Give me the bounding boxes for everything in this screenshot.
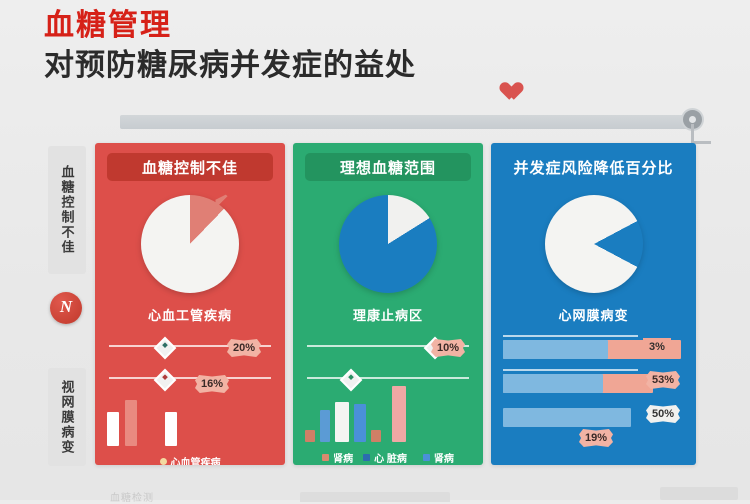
pie-chart-healthy-zone [339, 195, 437, 293]
legend-label: 心 脏病 [374, 450, 407, 465]
hbar-fill [503, 340, 608, 359]
header: 血糖管理 对预防糖尿病并发症的益处 [44, 6, 734, 86]
hbar-fill [503, 374, 603, 393]
panel-poor-control[interactable]: 血糖控制不佳 心血工管疾病 心血 [95, 143, 285, 465]
badge-19: 19% [579, 429, 613, 447]
slide-canvas: 血糖管理 对预防糖尿病并发症的益处 血糖控制不佳 N 视网膜病变 血糖控制不佳 [0, 0, 750, 500]
bar [165, 412, 177, 446]
page-title-sub: 对预防糖尿病并发症的益处 [44, 46, 734, 86]
pie-shape [339, 195, 437, 293]
legend-label: 心血管疾病 [171, 454, 221, 465]
slider-green-2[interactable] [307, 372, 469, 384]
bar-chart-red [107, 390, 273, 446]
bar-chart-green [305, 386, 471, 442]
sidebar-item-label-top: 血糖控制不佳 [61, 165, 74, 255]
panel-title-ideal-range: 理想血糖范围 [305, 153, 471, 181]
hbar-row[interactable]: 3% [503, 338, 684, 360]
bar [305, 430, 315, 442]
footer-caption: 血糖检测 [110, 489, 154, 504]
panel-ideal-range[interactable]: 理想血糖范围 理康止病区 [293, 143, 483, 465]
legend-green: 肾病 心 脏病 肾病 [293, 450, 483, 465]
hbar-label-53: 53% [646, 371, 680, 389]
hbar-label-50: 50% [646, 405, 680, 423]
badge-10: 10% [431, 339, 465, 357]
sidebar: 血糖控制不佳 N 视网膜病变 [48, 146, 86, 466]
badge-16: 16% [195, 375, 229, 393]
stand-neck [300, 492, 450, 502]
slider-knob[interactable] [154, 337, 177, 360]
legend-swatch-icon [160, 458, 167, 465]
bar [354, 404, 366, 442]
pie-label-healthy-zone: 理康止病区 [293, 305, 483, 324]
panel-group: 血糖控制不佳 心血工管疾病 心血 [95, 143, 696, 465]
badge-glyph: N [50, 297, 82, 317]
legend-item: 心血管疾病 [160, 454, 221, 465]
slider-red-2[interactable] [109, 372, 271, 384]
sidebar-item-poor-control[interactable]: 血糖控制不佳 [48, 146, 86, 274]
pie-chart-retinopathy [545, 195, 643, 293]
slider-track [307, 377, 469, 379]
pie-shape [545, 195, 643, 293]
hbar-chart-blue: 3% 53% 50% [503, 338, 684, 428]
legend-red: 心血管疾病 [95, 454, 285, 465]
legend-swatch-icon [322, 454, 329, 461]
slider-track [109, 377, 271, 379]
pie-chart-cardiovascular [141, 195, 239, 293]
status-badge-icon[interactable]: N [50, 292, 82, 324]
hbar-row[interactable]: 53% [503, 372, 684, 394]
bar [125, 400, 137, 446]
bar [107, 412, 119, 446]
sidebar-item-retinopathy[interactable]: 视网膜病变 [48, 368, 86, 466]
footer-chip [660, 487, 738, 500]
pie-label-retinopathy: 心网膜病变 [491, 305, 696, 324]
hbar-cap [503, 369, 638, 371]
slider-knob[interactable] [154, 369, 177, 392]
legend-item: 肾病 [322, 450, 353, 465]
panel-title-risk-reduction: 并发症风险降低百分比 [496, 153, 691, 181]
badge-20: 20% [227, 339, 261, 357]
legend-label: 肾病 [333, 450, 353, 465]
hbar-cap [503, 335, 638, 337]
page-title-sub-text: 对预防糖尿病并发症的益处 [44, 49, 416, 82]
legend-item: 肾病 [423, 450, 454, 465]
bar [335, 402, 349, 442]
toolbar-track[interactable] [120, 115, 690, 129]
sidebar-item-label-bottom: 视网膜病变 [61, 380, 74, 455]
legend-label: 肾病 [434, 450, 454, 465]
hbar-fill [503, 408, 631, 427]
pie-label-cardiovascular: 心血工管疾病 [95, 305, 285, 324]
legend-swatch-icon [363, 454, 370, 461]
bar [320, 410, 330, 442]
legend-item: 心 脏病 [363, 450, 407, 465]
panel-risk-reduction[interactable]: 并发症风险降低百分比 心网膜病变 3% 53% [491, 143, 696, 465]
page-title-main: 血糖管理 [44, 6, 734, 46]
bar [371, 430, 381, 442]
hbar-label-3: 3% [643, 338, 671, 356]
heart-icon [496, 74, 518, 94]
legend-swatch-icon [423, 454, 430, 461]
hbar-row[interactable]: 50% [503, 406, 684, 428]
panel-title-poor-control: 血糖控制不佳 [107, 153, 273, 181]
bar [392, 386, 406, 442]
